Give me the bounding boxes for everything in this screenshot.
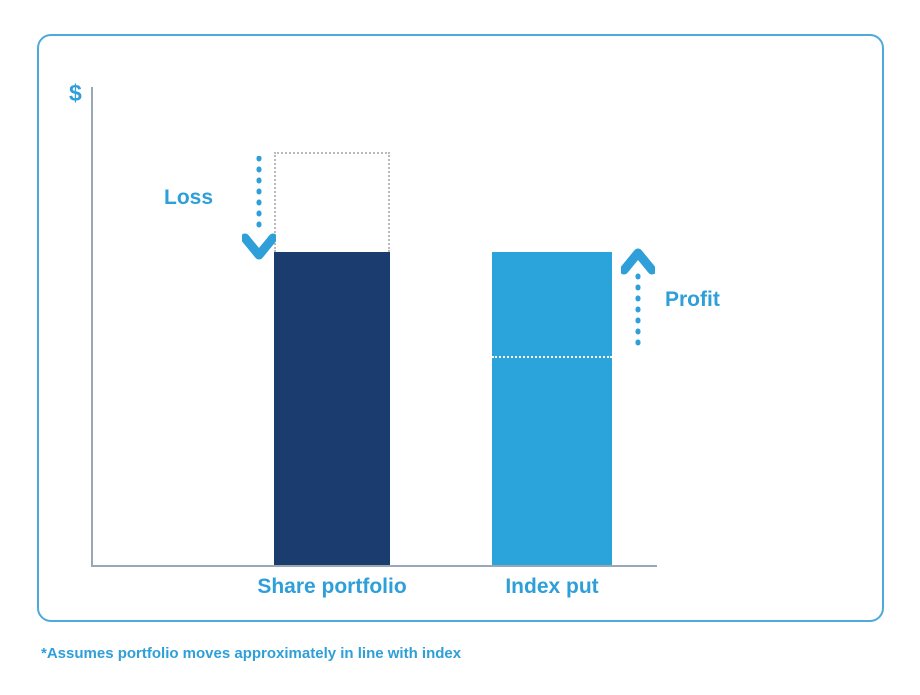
arrow-down-dotted-icon (242, 156, 276, 264)
loss-label: Loss (164, 186, 213, 210)
category-label-share-portfolio: Share portfolio (232, 575, 432, 599)
plot-area: $ Loss Profit (39, 36, 886, 624)
loss-annotation: Loss (164, 156, 279, 266)
category-label-index-put: Index put (462, 575, 642, 599)
bar-share-portfolio (274, 252, 390, 565)
y-axis-line (91, 87, 93, 566)
ghost-bar-outline-share-portfolio (274, 152, 390, 252)
footnote-text: *Assumes portfolio moves approximately i… (41, 645, 461, 662)
x-axis-line (91, 565, 657, 567)
strike-reference-line-index-put (492, 356, 612, 358)
bar-index-put (492, 252, 612, 565)
profit-annotation: Profit (617, 244, 777, 359)
profit-label: Profit (665, 288, 720, 312)
chart-card: $ Loss Profit (37, 34, 884, 622)
y-axis-unit-label: $ (69, 82, 82, 105)
arrow-up-dotted-icon (621, 244, 655, 354)
